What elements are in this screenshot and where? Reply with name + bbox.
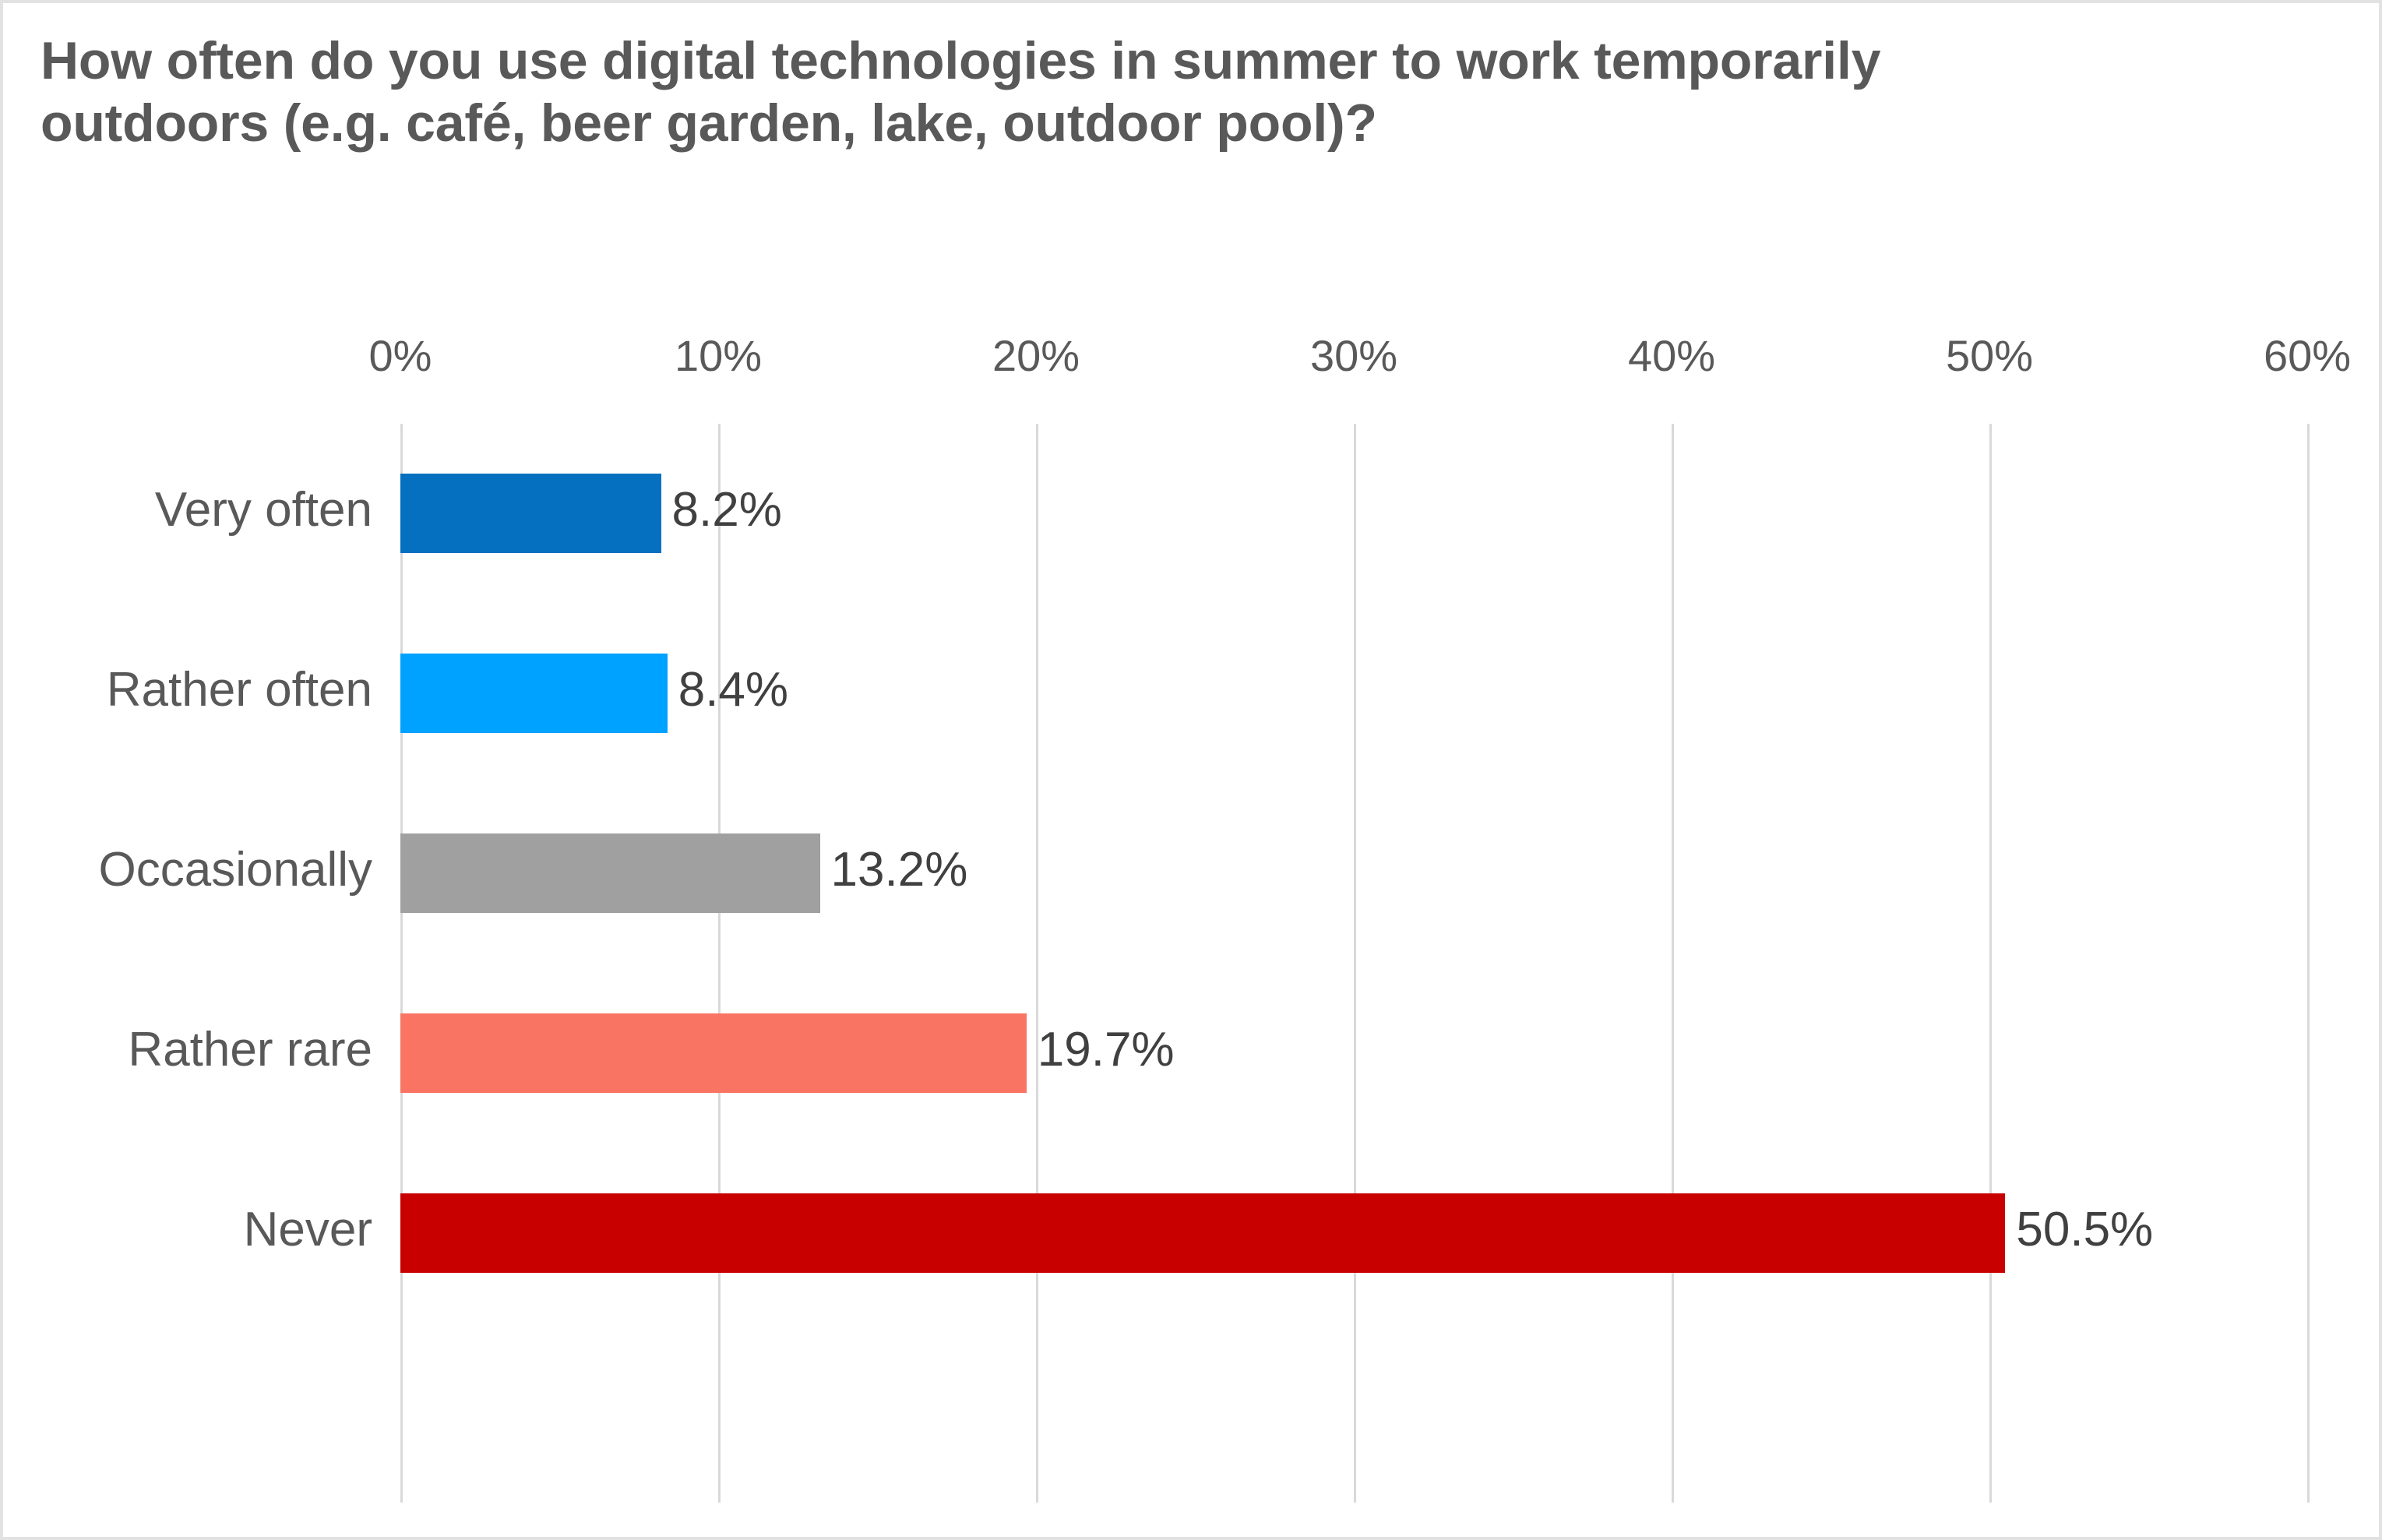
x-axis-tick-label: 0%	[369, 330, 432, 381]
bar-value-label: 19.7%	[1038, 1022, 1175, 1077]
x-axis-tick-label: 40%	[1628, 330, 1715, 381]
bar-value-label: 13.2%	[831, 842, 968, 897]
bar	[400, 1193, 2005, 1273]
y-axis-category-label: Rather often	[3, 662, 372, 717]
x-axis-tick-label: 50%	[1946, 330, 2033, 381]
bar	[400, 1013, 1027, 1093]
gridline	[1036, 424, 1038, 1503]
chart-container: How often do you use digital technologie…	[0, 0, 2382, 1540]
bar	[400, 474, 661, 553]
x-axis-tick-label: 60%	[2264, 330, 2351, 381]
gridline	[1989, 424, 1992, 1503]
x-axis-tick-label: 30%	[1310, 330, 1397, 381]
axis-line-zero	[400, 424, 403, 1503]
bar-value-label: 50.5%	[2016, 1202, 2153, 1257]
bar	[400, 654, 668, 733]
plot-area: 8.2%8.4%13.2%19.7%50.5%	[400, 424, 2307, 1503]
y-axis-category-label: Rather rare	[3, 1022, 372, 1077]
bar-value-label: 8.2%	[672, 482, 782, 537]
bar	[400, 833, 820, 913]
chart-title: How often do you use digital technologie…	[41, 30, 2035, 154]
y-axis-category-label: Never	[3, 1202, 372, 1257]
y-axis-category-label: Occasionally	[3, 842, 372, 897]
gridline	[718, 424, 721, 1503]
y-axis-category-label: Very often	[3, 482, 372, 537]
gridline	[1354, 424, 1356, 1503]
bar-value-label: 8.4%	[678, 662, 788, 717]
gridline	[1672, 424, 1674, 1503]
x-axis-tick-label: 10%	[675, 330, 762, 381]
gridline	[2307, 424, 2310, 1503]
x-axis-tick-label: 20%	[992, 330, 1080, 381]
